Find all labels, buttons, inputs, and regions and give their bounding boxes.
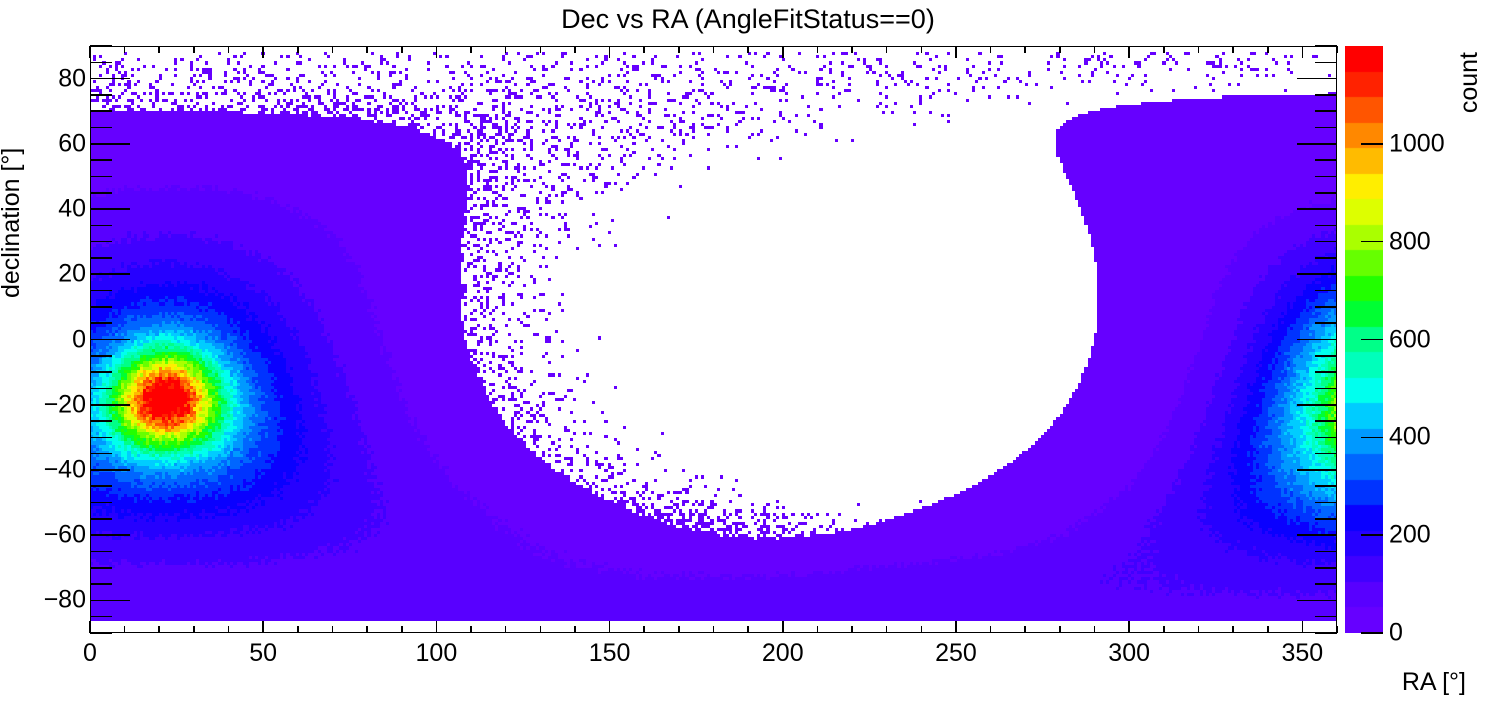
colorbar-tick xyxy=(1361,534,1383,536)
colorbar-tick xyxy=(1361,632,1383,634)
x-tick-minor-top xyxy=(1024,46,1026,53)
x-tick-minor xyxy=(1094,626,1096,633)
x-tick-minor-top xyxy=(540,46,542,53)
y-tick-label: 40 xyxy=(38,195,86,224)
y-tick-minor-right xyxy=(1315,502,1337,504)
y-tick-minor xyxy=(90,437,112,439)
x-tick-minor xyxy=(1024,626,1026,633)
y-tick-major xyxy=(90,469,130,471)
x-tick-label: 350 xyxy=(1282,639,1324,668)
chart-canvas-root: Dec vs RA (AngleFitStatus==0) RA [°] dec… xyxy=(0,0,1496,722)
x-tick-minor-top xyxy=(1163,46,1165,53)
y-tick-minor xyxy=(90,355,112,357)
x-tick-label: 250 xyxy=(935,639,977,668)
x-tick-minor xyxy=(297,626,299,633)
y-tick-minor-right xyxy=(1315,45,1337,47)
x-tick-minor-top xyxy=(158,46,160,53)
x-tick-minor-top xyxy=(401,46,403,53)
x-tick-minor-top xyxy=(332,46,334,53)
y-tick-minor-right xyxy=(1315,159,1337,161)
y-tick-minor-right xyxy=(1315,322,1337,324)
y-tick-minor xyxy=(90,388,112,390)
x-tick-major-top xyxy=(89,46,91,58)
y-tick-minor xyxy=(90,453,112,455)
y-tick-minor xyxy=(90,290,112,292)
x-tick-minor xyxy=(747,626,749,633)
colorbar-tick xyxy=(1361,437,1383,439)
plot-area xyxy=(90,46,1337,633)
x-tick-minor-top xyxy=(193,46,195,53)
x-tick-minor xyxy=(713,626,715,633)
colorbar-tick xyxy=(1361,339,1383,341)
y-tick-minor xyxy=(90,567,112,569)
y-tick-major-right xyxy=(1297,600,1337,602)
x-tick-minor xyxy=(193,626,195,633)
x-tick-minor-top xyxy=(228,46,230,53)
x-tick-label: 100 xyxy=(416,639,458,668)
x-tick-major-top xyxy=(436,46,438,58)
x-tick-minor-top xyxy=(817,46,819,53)
x-tick-minor xyxy=(1232,626,1234,633)
y-tick-minor-right xyxy=(1315,192,1337,194)
y-tick-major-right xyxy=(1297,143,1337,145)
colorbar-tick-label: 200 xyxy=(1389,521,1431,550)
y-tick-minor xyxy=(90,110,112,112)
x-tick-major-top xyxy=(609,46,611,58)
x-tick-minor xyxy=(1163,626,1165,633)
y-tick-minor-right xyxy=(1315,583,1337,585)
x-tick-minor xyxy=(990,626,992,633)
y-tick-minor xyxy=(90,159,112,161)
x-tick-major-top xyxy=(1302,46,1304,58)
y-tick-minor-right xyxy=(1315,62,1337,64)
y-tick-label: −60 xyxy=(38,521,86,550)
y-axis-title: declination [°] xyxy=(0,48,26,298)
y-tick-minor-right xyxy=(1315,485,1337,487)
x-tick-major-top xyxy=(955,46,957,58)
x-tick-major xyxy=(955,621,957,633)
x-tick-label: 200 xyxy=(762,639,804,668)
y-tick-minor-right xyxy=(1315,551,1337,553)
y-tick-minor xyxy=(90,192,112,194)
y-tick-minor xyxy=(90,485,112,487)
y-tick-minor xyxy=(90,127,112,129)
y-tick-major-right xyxy=(1297,273,1337,275)
y-tick-minor-right xyxy=(1315,518,1337,520)
y-tick-minor xyxy=(90,551,112,553)
x-axis-title: RA [°] xyxy=(1402,668,1466,697)
x-tick-label: 300 xyxy=(1108,639,1150,668)
x-tick-minor-top xyxy=(1094,46,1096,53)
x-tick-major-top xyxy=(262,46,264,58)
y-tick-minor-right xyxy=(1315,453,1337,455)
colorbar-tick-label: 0 xyxy=(1389,619,1403,648)
y-tick-major xyxy=(90,404,130,406)
y-tick-major xyxy=(90,600,130,602)
x-tick-minor-top xyxy=(921,46,923,53)
x-tick-major xyxy=(262,621,264,633)
y-tick-label: 80 xyxy=(38,64,86,93)
y-tick-minor xyxy=(90,502,112,504)
x-tick-minor xyxy=(921,626,923,633)
y-tick-label: −80 xyxy=(38,586,86,615)
x-tick-minor xyxy=(401,626,403,633)
y-tick-major-right xyxy=(1297,404,1337,406)
x-tick-minor-top xyxy=(990,46,992,53)
y-tick-label: 20 xyxy=(38,260,86,289)
x-tick-label: 0 xyxy=(83,639,97,668)
y-tick-minor-right xyxy=(1315,225,1337,227)
x-tick-minor-top xyxy=(574,46,576,53)
x-tick-minor xyxy=(886,626,888,633)
y-tick-minor xyxy=(90,176,112,178)
y-tick-minor xyxy=(90,632,112,634)
y-tick-minor xyxy=(90,225,112,227)
y-tick-minor-right xyxy=(1315,388,1337,390)
y-tick-minor-right xyxy=(1315,306,1337,308)
x-tick-minor-top xyxy=(366,46,368,53)
x-tick-minor-top xyxy=(886,46,888,53)
y-tick-minor xyxy=(90,241,112,243)
x-tick-major-top xyxy=(782,46,784,58)
x-tick-major xyxy=(782,621,784,633)
y-tick-major-right xyxy=(1297,339,1337,341)
x-tick-minor xyxy=(643,626,645,633)
x-tick-minor xyxy=(1198,626,1200,633)
colorbar-tick-label: 600 xyxy=(1389,325,1431,354)
y-tick-minor-right xyxy=(1315,616,1337,618)
x-tick-minor xyxy=(678,626,680,633)
y-tick-minor-right xyxy=(1315,355,1337,357)
x-tick-major xyxy=(1302,621,1304,633)
x-tick-minor-top xyxy=(470,46,472,53)
page-title: Dec vs RA (AngleFitStatus==0) xyxy=(0,4,1496,35)
x-tick-minor xyxy=(158,626,160,633)
y-tick-major xyxy=(90,534,130,536)
x-tick-minor xyxy=(366,626,368,633)
x-tick-major xyxy=(609,621,611,633)
y-tick-label: −40 xyxy=(38,455,86,484)
y-tick-minor-right xyxy=(1315,94,1337,96)
y-tick-minor xyxy=(90,371,112,373)
y-tick-minor xyxy=(90,94,112,96)
x-tick-minor-top xyxy=(1059,46,1061,53)
y-tick-label: 0 xyxy=(38,325,86,354)
x-tick-minor-top xyxy=(678,46,680,53)
y-tick-minor-right xyxy=(1315,290,1337,292)
y-tick-minor-right xyxy=(1315,110,1337,112)
x-tick-minor xyxy=(574,626,576,633)
x-tick-major xyxy=(436,621,438,633)
colorbar-tick-label: 800 xyxy=(1389,227,1431,256)
y-tick-major-right xyxy=(1297,534,1337,536)
y-tick-minor-right xyxy=(1315,420,1337,422)
y-tick-minor-right xyxy=(1315,567,1337,569)
y-tick-minor-right xyxy=(1315,437,1337,439)
y-tick-major xyxy=(90,78,130,80)
y-tick-minor xyxy=(90,420,112,422)
x-tick-major-top xyxy=(1128,46,1130,58)
x-tick-minor-top xyxy=(747,46,749,53)
y-tick-minor xyxy=(90,616,112,618)
x-tick-minor-top xyxy=(851,46,853,53)
y-tick-minor xyxy=(90,518,112,520)
y-tick-major xyxy=(90,143,130,145)
x-tick-major xyxy=(1128,621,1130,633)
y-tick-minor xyxy=(90,62,112,64)
y-tick-minor xyxy=(90,583,112,585)
y-tick-major-right xyxy=(1297,469,1337,471)
y-tick-minor xyxy=(90,45,112,47)
y-tick-major xyxy=(90,339,130,341)
x-tick-minor xyxy=(817,626,819,633)
x-tick-minor-top xyxy=(505,46,507,53)
x-tick-label: 50 xyxy=(249,639,277,668)
x-tick-minor xyxy=(505,626,507,633)
x-tick-minor-top xyxy=(1267,46,1269,53)
y-tick-major-right xyxy=(1297,208,1337,210)
x-tick-minor-top xyxy=(1336,46,1338,53)
y-tick-minor xyxy=(90,306,112,308)
x-tick-major xyxy=(89,621,91,633)
x-tick-minor-top xyxy=(643,46,645,53)
x-tick-minor xyxy=(851,626,853,633)
y-tick-minor-right xyxy=(1315,371,1337,373)
y-tick-minor-right xyxy=(1315,127,1337,129)
x-tick-minor-top xyxy=(713,46,715,53)
colorbar-tick xyxy=(1361,143,1383,145)
heatmap-canvas xyxy=(90,46,1337,633)
colorbar-tick-label: 1000 xyxy=(1389,129,1445,158)
y-tick-minor-right xyxy=(1315,632,1337,634)
x-tick-minor xyxy=(332,626,334,633)
colorbar-tick-label: 400 xyxy=(1389,423,1431,452)
y-tick-minor-right xyxy=(1315,241,1337,243)
colorbar-tick xyxy=(1361,241,1383,243)
x-tick-minor-top xyxy=(124,46,126,53)
y-tick-label: −20 xyxy=(38,390,86,419)
y-tick-minor-right xyxy=(1315,257,1337,259)
x-tick-minor xyxy=(124,626,126,633)
colorbar-title: count xyxy=(1455,52,1484,212)
x-tick-minor-top xyxy=(297,46,299,53)
x-tick-minor-top xyxy=(1198,46,1200,53)
y-tick-major xyxy=(90,273,130,275)
y-tick-minor xyxy=(90,257,112,259)
y-tick-minor xyxy=(90,322,112,324)
x-tick-minor xyxy=(540,626,542,633)
x-tick-minor xyxy=(228,626,230,633)
x-tick-label: 150 xyxy=(589,639,631,668)
x-tick-minor-top xyxy=(1232,46,1234,53)
y-tick-minor-right xyxy=(1315,176,1337,178)
y-tick-label: 60 xyxy=(38,129,86,158)
x-tick-minor xyxy=(1059,626,1061,633)
y-tick-major-right xyxy=(1297,78,1337,80)
x-tick-minor xyxy=(1267,626,1269,633)
x-tick-minor xyxy=(470,626,472,633)
y-tick-major xyxy=(90,208,130,210)
